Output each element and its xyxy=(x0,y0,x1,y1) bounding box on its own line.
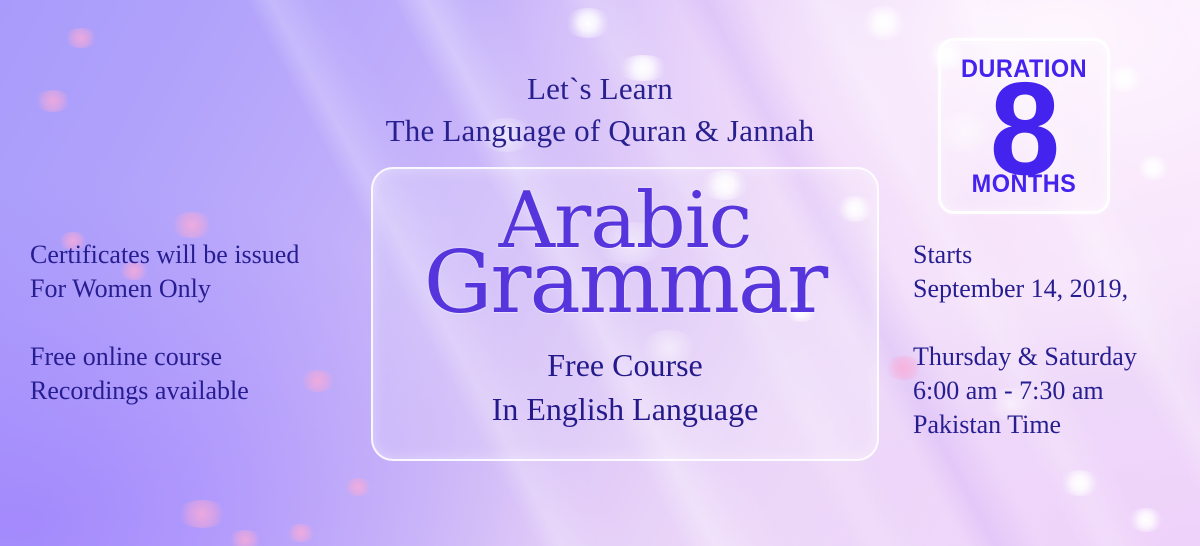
course-title-panel: Arabic Grammar Free Course In English La… xyxy=(371,167,879,461)
duration-badge: DURATION 8 MONTHS xyxy=(938,38,1110,214)
bokeh-dot xyxy=(565,8,611,38)
bokeh-dot xyxy=(64,28,98,48)
left-info-column: Certificates will be issued For Women On… xyxy=(30,238,360,408)
bokeh-dot xyxy=(862,6,906,40)
bokeh-dot xyxy=(1136,156,1170,180)
promotional-banner: Let`s Learn The Language of Quran & Jann… xyxy=(0,0,1200,546)
right-schedule-column: Starts September 14, 2019, Thursday & Sa… xyxy=(913,238,1188,442)
bokeh-dot xyxy=(170,212,214,238)
bokeh-dot xyxy=(1128,508,1164,532)
bokeh-dot xyxy=(176,500,228,528)
course-subtitle: Free Course In English Language xyxy=(373,343,877,431)
course-title: Arabic Grammar xyxy=(373,181,877,319)
bokeh-dot xyxy=(1060,470,1100,496)
duration-badge-bottom-label: MONTHS xyxy=(946,170,1102,199)
course-title-line-2: Grammar xyxy=(373,247,877,319)
bokeh-dot xyxy=(286,524,316,542)
bokeh-dot xyxy=(228,530,262,546)
bokeh-dot xyxy=(344,478,372,496)
